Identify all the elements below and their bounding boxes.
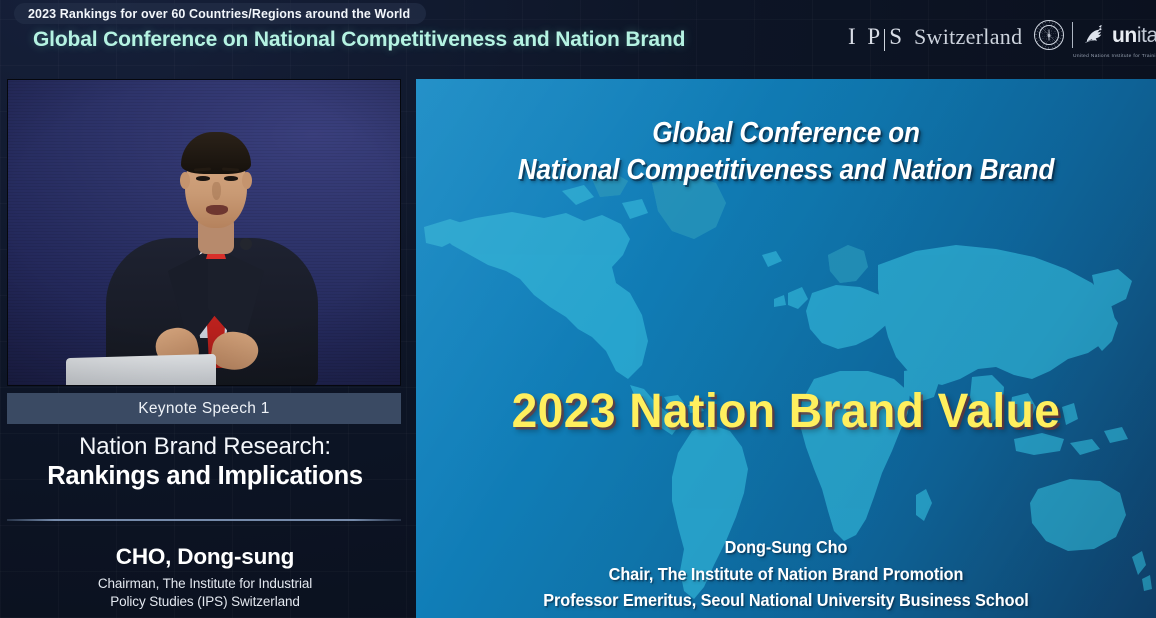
speaker-ear-right: [242, 172, 252, 189]
un-emblem-icon: [1034, 20, 1064, 50]
ips-logo-wordmark: Switzerland: [914, 24, 1022, 50]
slide-conference-title: Global Conference on National Competitiv…: [453, 115, 1119, 189]
unitar-tagline: United Nations Institute for Training an…: [1073, 53, 1156, 58]
unitar-wordmark: unitar: [1112, 25, 1156, 46]
unitar-wordmark-bold: un: [1112, 24, 1137, 47]
microphone-capsule: [240, 238, 252, 250]
speaker-ear-left: [180, 172, 190, 189]
presentation-screen: 2023 Rankings for over 60 Countries/Regi…: [0, 0, 1156, 618]
slide-credit-title: Professor Emeritus, Seoul National Unive…: [442, 587, 1130, 614]
panel-divider: [7, 519, 401, 521]
unitar-bird-icon: [1081, 21, 1109, 49]
ips-logo-mark-s: S: [889, 24, 905, 50]
speaker-affiliation-line1: Chairman, The Institute for Industrial: [98, 576, 312, 591]
speaker-panel: Keynote Speech 1 Nation Brand Research: …: [0, 75, 410, 618]
speaker-eye-left: [196, 176, 210, 181]
speaker-video-feed[interactable]: [7, 79, 401, 386]
ips-switzerland-logo: I P S Switzerland: [848, 24, 1022, 50]
speaker-affiliation-line2: Policy Studies (IPS) Switzerland: [110, 594, 300, 609]
keynote-badge: Keynote Speech 1: [7, 393, 401, 424]
keynote-badge-label: Keynote Speech 1: [138, 400, 269, 418]
slide-credit-role: Chair, The Institute of Nation Brand Pro…: [442, 561, 1130, 588]
talk-title: Nation Brand Research: Rankings and Impl…: [0, 433, 410, 491]
unitar-wordmark-light: itar: [1137, 24, 1156, 47]
ips-logo-mark: I P: [848, 24, 883, 50]
talk-title-line2: Rankings and Implications: [0, 461, 410, 492]
speaker-nose: [212, 182, 221, 200]
header-kicker-text: 2023 Rankings for over 60 Countries/Regi…: [28, 7, 410, 21]
speaker-mouth: [206, 205, 228, 215]
unitar-logo-row: unitar: [1034, 20, 1156, 50]
header-conference-title: Global Conference on National Competitiv…: [33, 28, 685, 52]
slide-credit-name: Dong-Sung Cho: [442, 534, 1130, 561]
talk-title-line1: Nation Brand Research:: [0, 433, 410, 461]
speaker-eye-right: [224, 176, 238, 181]
ips-logo-divider: [884, 29, 885, 51]
speaker-name: CHO, Dong-sung: [0, 544, 410, 570]
unitar-logo: unitar United Nations Institute for Trai…: [1034, 20, 1156, 58]
conference-header-bar: 2023 Rankings for over 60 Countries/Regi…: [0, 0, 1156, 75]
slide-headline: 2023 Nation Brand Value: [431, 384, 1141, 439]
presentation-slide[interactable]: Global Conference on National Competitiv…: [416, 79, 1156, 618]
unitar-logo-divider: [1072, 22, 1073, 48]
slide-title-line2: National Competitiveness and Nation Bran…: [453, 152, 1119, 189]
slide-title-line1: Global Conference on: [453, 115, 1119, 152]
header-kicker-pill: 2023 Rankings for over 60 Countries/Regi…: [14, 3, 426, 24]
podium-laptop: [66, 354, 216, 386]
speaker-affiliation: Chairman, The Institute for Industrial P…: [0, 575, 410, 611]
slide-credits: Dong-Sung Cho Chair, The Institute of Na…: [442, 534, 1130, 614]
